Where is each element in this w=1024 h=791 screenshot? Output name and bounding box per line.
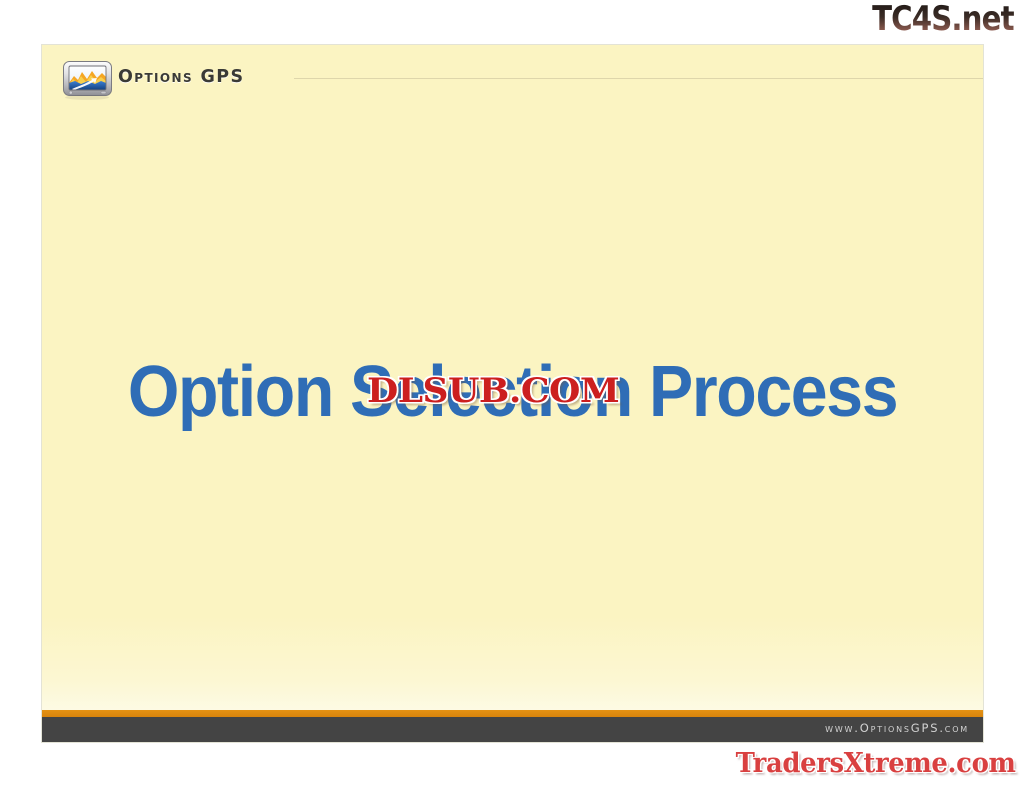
slide-footer: www.OptionsGPS.com [42, 717, 983, 742]
header-divider [294, 78, 983, 79]
footer-url-label: www.OptionsGPS.com [825, 721, 969, 735]
dlsub-watermark: DLSUB.COM [367, 371, 619, 411]
footer-accent-line [42, 710, 983, 717]
tc4s-watermark: TC4S.net [872, 0, 1014, 39]
presentation-slide: Options GPS Option Selection Process DLS… [42, 45, 983, 742]
brand-wordmark: Options GPS [118, 67, 245, 87]
gps-device-icon [61, 59, 114, 101]
tradersxtreme-watermark: TradersXtreme.com [736, 748, 1016, 779]
